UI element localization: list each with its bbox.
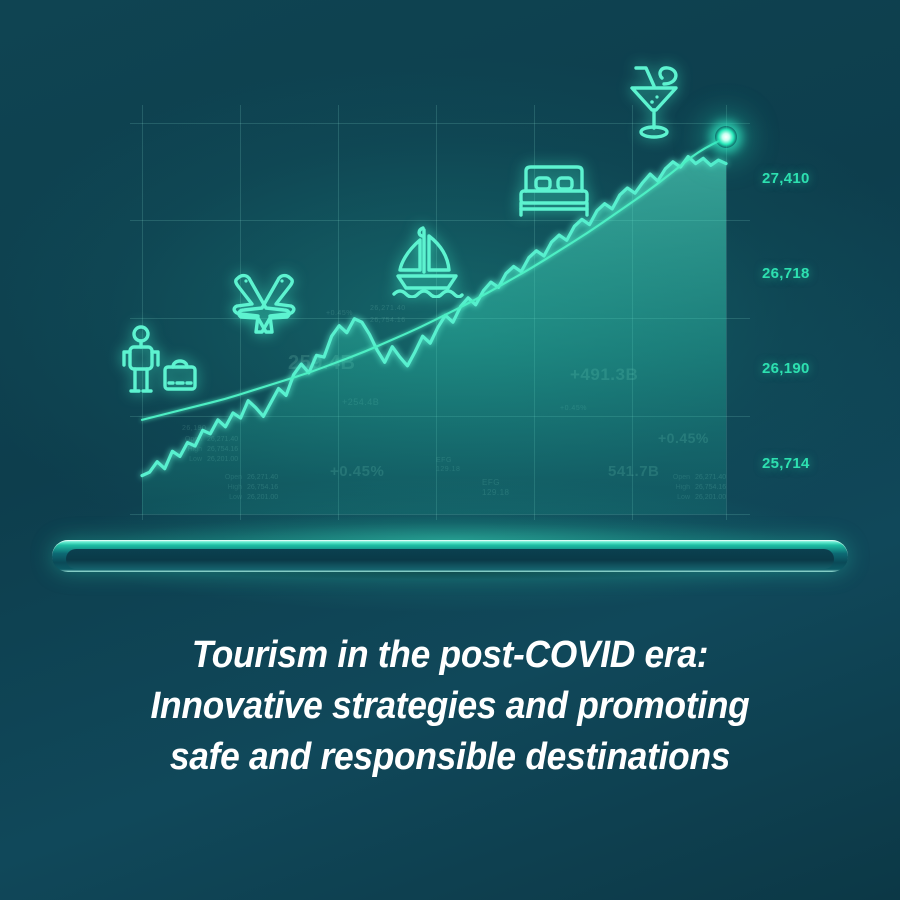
cocktail-icon — [624, 62, 684, 140]
traveler-with-luggage-icon — [115, 325, 201, 395]
title-line-3: safe and responsible destinations — [87, 732, 812, 783]
y-axis-label-0: 27,410 — [762, 170, 810, 187]
page-title: Tourism in the post-COVID era: Innovativ… — [87, 630, 812, 783]
poster-canvas: 259.4B +254.4B +491.3B +0.45% +0.45% 541… — [0, 0, 900, 900]
hotel-bed-icon — [518, 163, 590, 219]
device-shadow — [90, 572, 810, 592]
y-axis-label-3: 25,714 — [762, 455, 810, 472]
tablet-base — [52, 540, 848, 572]
y-axis-label-2: 26,190 — [762, 360, 810, 377]
title-line-2: Innovative strategies and promoting — [87, 681, 812, 732]
y-axis-label-1: 26,718 — [762, 265, 810, 282]
title-line-1: Tourism in the post-COVID era: — [87, 630, 812, 681]
airplanes-icon — [222, 266, 306, 344]
sailboat-icon — [390, 220, 466, 298]
